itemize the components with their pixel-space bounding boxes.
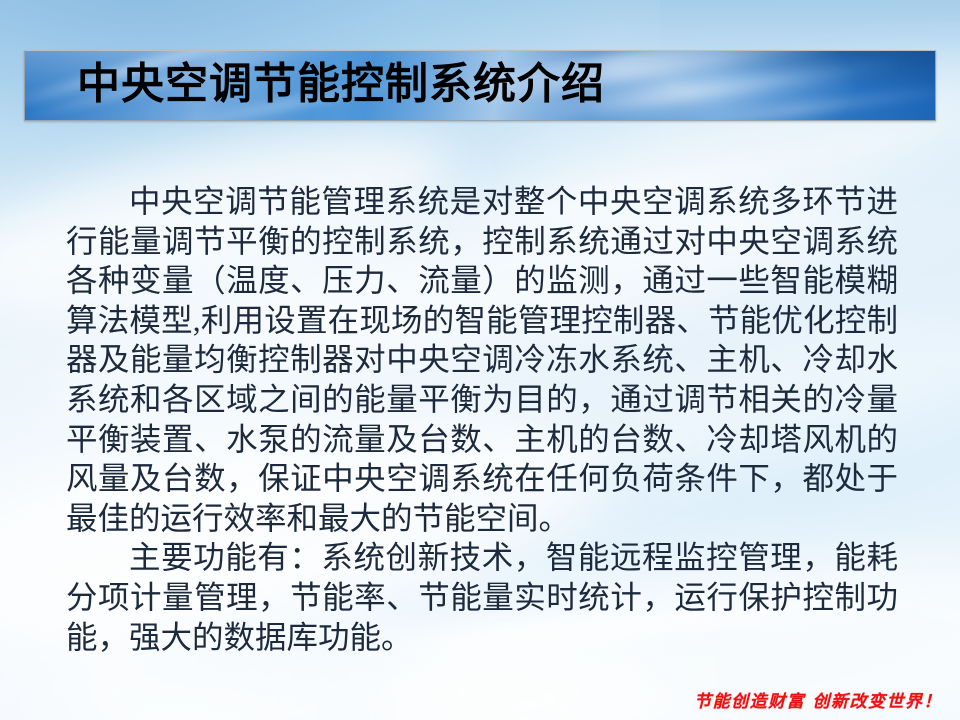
slide-title: 中央空调节能控制系统介绍 <box>77 63 605 106</box>
body-paragraph-1: 中央空调节能管理系统是对整个中央空调系统多环节进行能量调节平衡的控制系统，控制系… <box>66 182 898 538</box>
footer-slogan: 节能创造财富 创新改变世界！ <box>694 687 942 712</box>
body-paragraph-2: 主要功能有：系统创新技术，智能远程监控管理，能耗分项计量管理，节能率、节能量实时… <box>66 538 898 657</box>
slide-body-text: 中央空调节能管理系统是对整个中央空调系统多环节进行能量调节平衡的控制系统，控制系… <box>66 182 898 657</box>
presentation-slide: 中央空调节能控制系统介绍 中央空调节能管理系统是对整个中央空调系统多环节进行能量… <box>0 0 960 720</box>
slide-title-banner: 中央空调节能控制系统介绍 <box>24 50 936 121</box>
